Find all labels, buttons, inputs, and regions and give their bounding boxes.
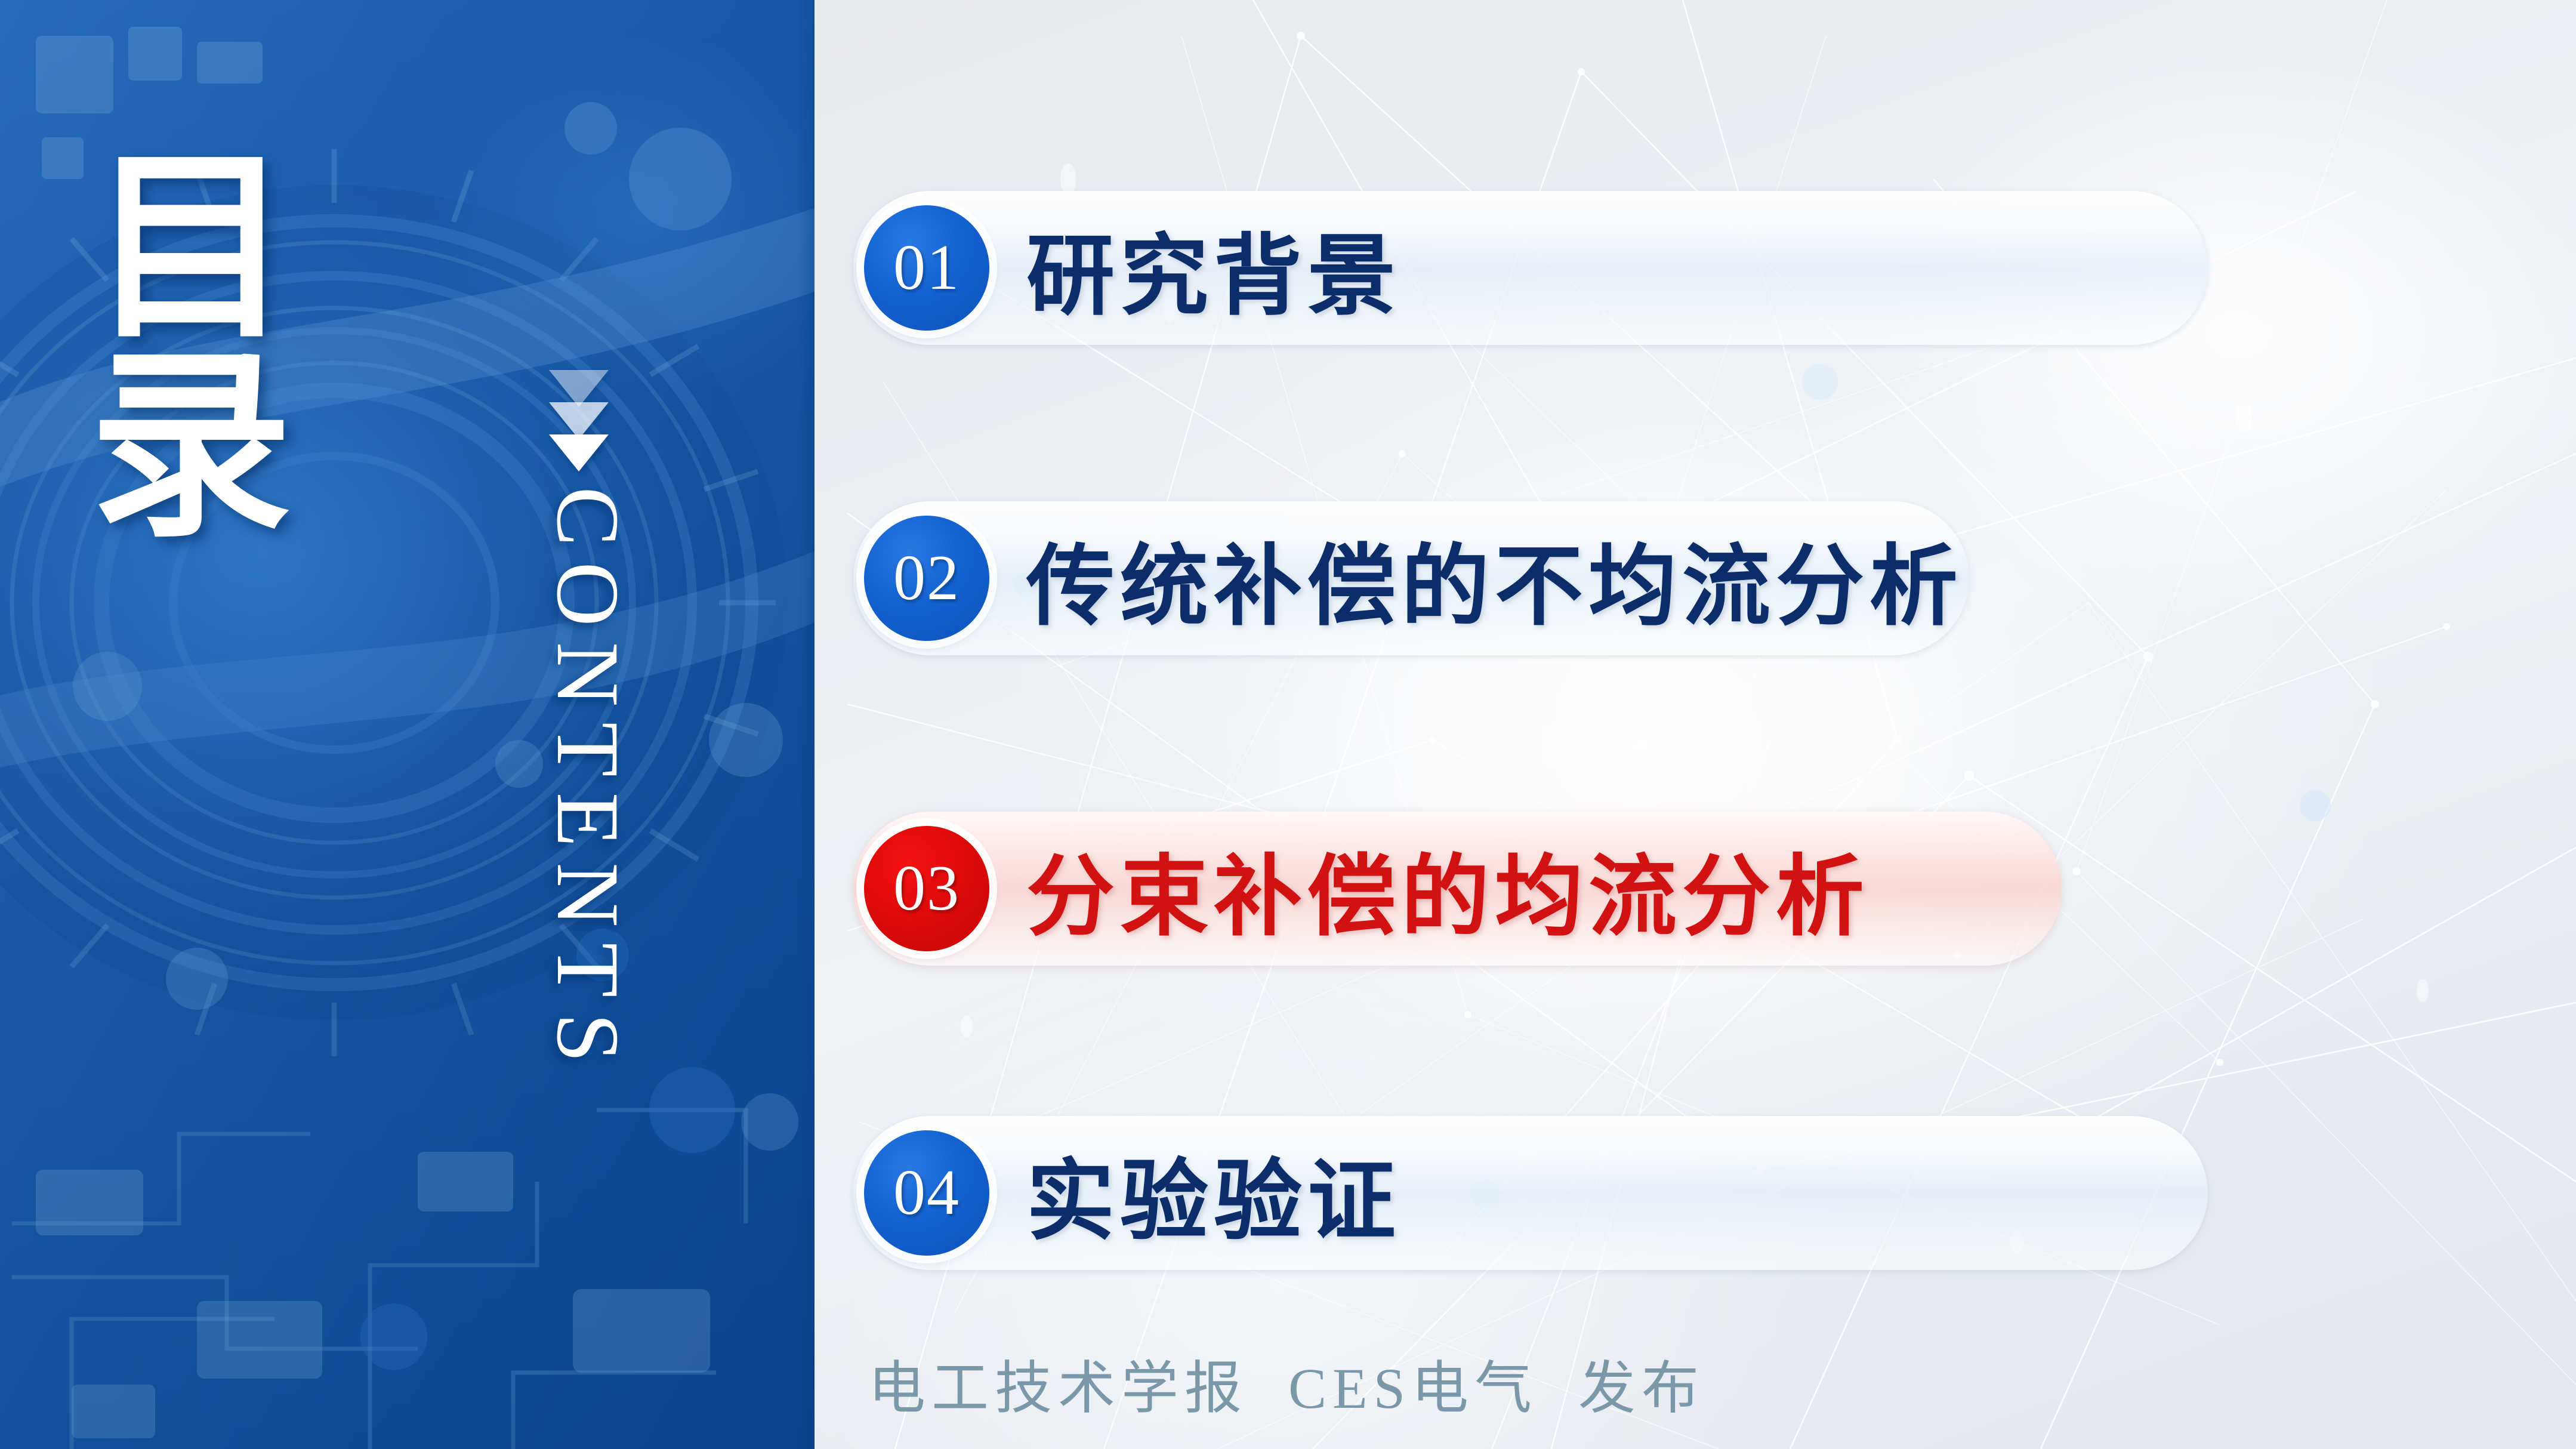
item-label-04: 实验验证 [1026,1129,1401,1257]
list-item[interactable]: 01 研究背景 [853,191,2208,345]
footer-credit: 电工技术学报 CES电气 发布 [868,1342,1705,1425]
slide-root: 目 录 CONTENTS 01 研究背景 02 传统补偿的不均流分析 03 分束… [0,0,2576,1449]
item-label-01: 研究背景 [1026,204,1401,332]
item-label-02: 传统补偿的不均流分析 [1026,514,1963,643]
contents-vertical-wrap: CONTENTS [471,501,722,1217]
sidebar-right-edge-shade [797,0,815,1449]
item-number-badge-03: 03 [864,826,989,951]
page-title-en: CONTENTS [536,433,639,1132]
item-number-badge-01: 01 [864,205,989,331]
item-label-03: 分束补偿的均流分析 [1026,825,1869,953]
item-number-badge-02: 02 [864,516,989,641]
triangle-down-icon-1 [549,370,609,407]
sidebar-panel: 目 录 CONTENTS [0,0,815,1449]
list-item[interactable]: 02 传统补偿的不均流分析 [853,501,1969,655]
page-title-cn: 目 录 [90,149,448,547]
item-number-badge-04: 04 [864,1130,989,1256]
list-item[interactable]: 03 分束补偿的均流分析 [853,812,2062,966]
list-item[interactable]: 04 实验验证 [853,1116,2208,1270]
contents-list: 01 研究背景 02 传统补偿的不均流分析 03 分束补偿的均流分析 04 实验… [853,0,2572,1449]
